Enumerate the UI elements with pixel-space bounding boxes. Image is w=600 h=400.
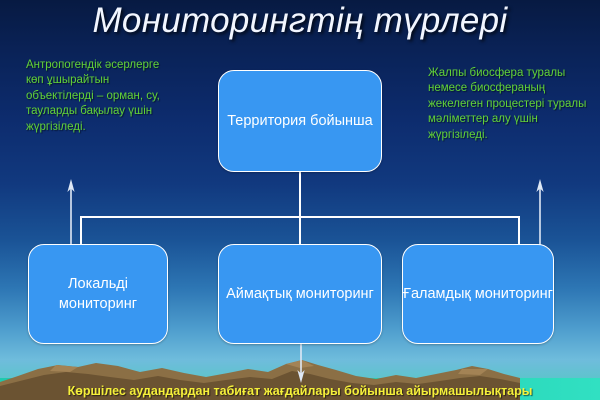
connector-right-vertical xyxy=(518,216,520,244)
connector-top-vertical xyxy=(299,172,301,244)
node-global-monitoring[interactable]: Ғаламдық мониторинг xyxy=(402,244,554,344)
slide-canvas: Мониторингтің түрлері Антропогендік әсер… xyxy=(0,0,600,400)
bottom-caption: Көршілес аудандардан табиғат жағдайлары … xyxy=(0,384,600,398)
node-local-monitoring[interactable]: Локальді мониторинг xyxy=(28,244,168,344)
right-annotation-text: Жалпы биосфера туралы немесе биосфераның… xyxy=(428,66,588,143)
arrow-down-icon xyxy=(296,344,306,384)
arrow-up-icon xyxy=(535,178,545,250)
node-territory[interactable]: Территория бойынша xyxy=(218,70,382,172)
arrow-up-icon xyxy=(66,178,76,250)
connector-left-vertical xyxy=(80,216,82,244)
slide-title: Мониторингтің түрлері xyxy=(0,1,600,41)
left-annotation-text: Антропогендік әсерлерге көп ұшырайтын об… xyxy=(26,58,166,135)
node-regional-monitoring[interactable]: Аймақтық мониторинг xyxy=(218,244,382,344)
connector-horizontal-bus xyxy=(80,216,520,218)
